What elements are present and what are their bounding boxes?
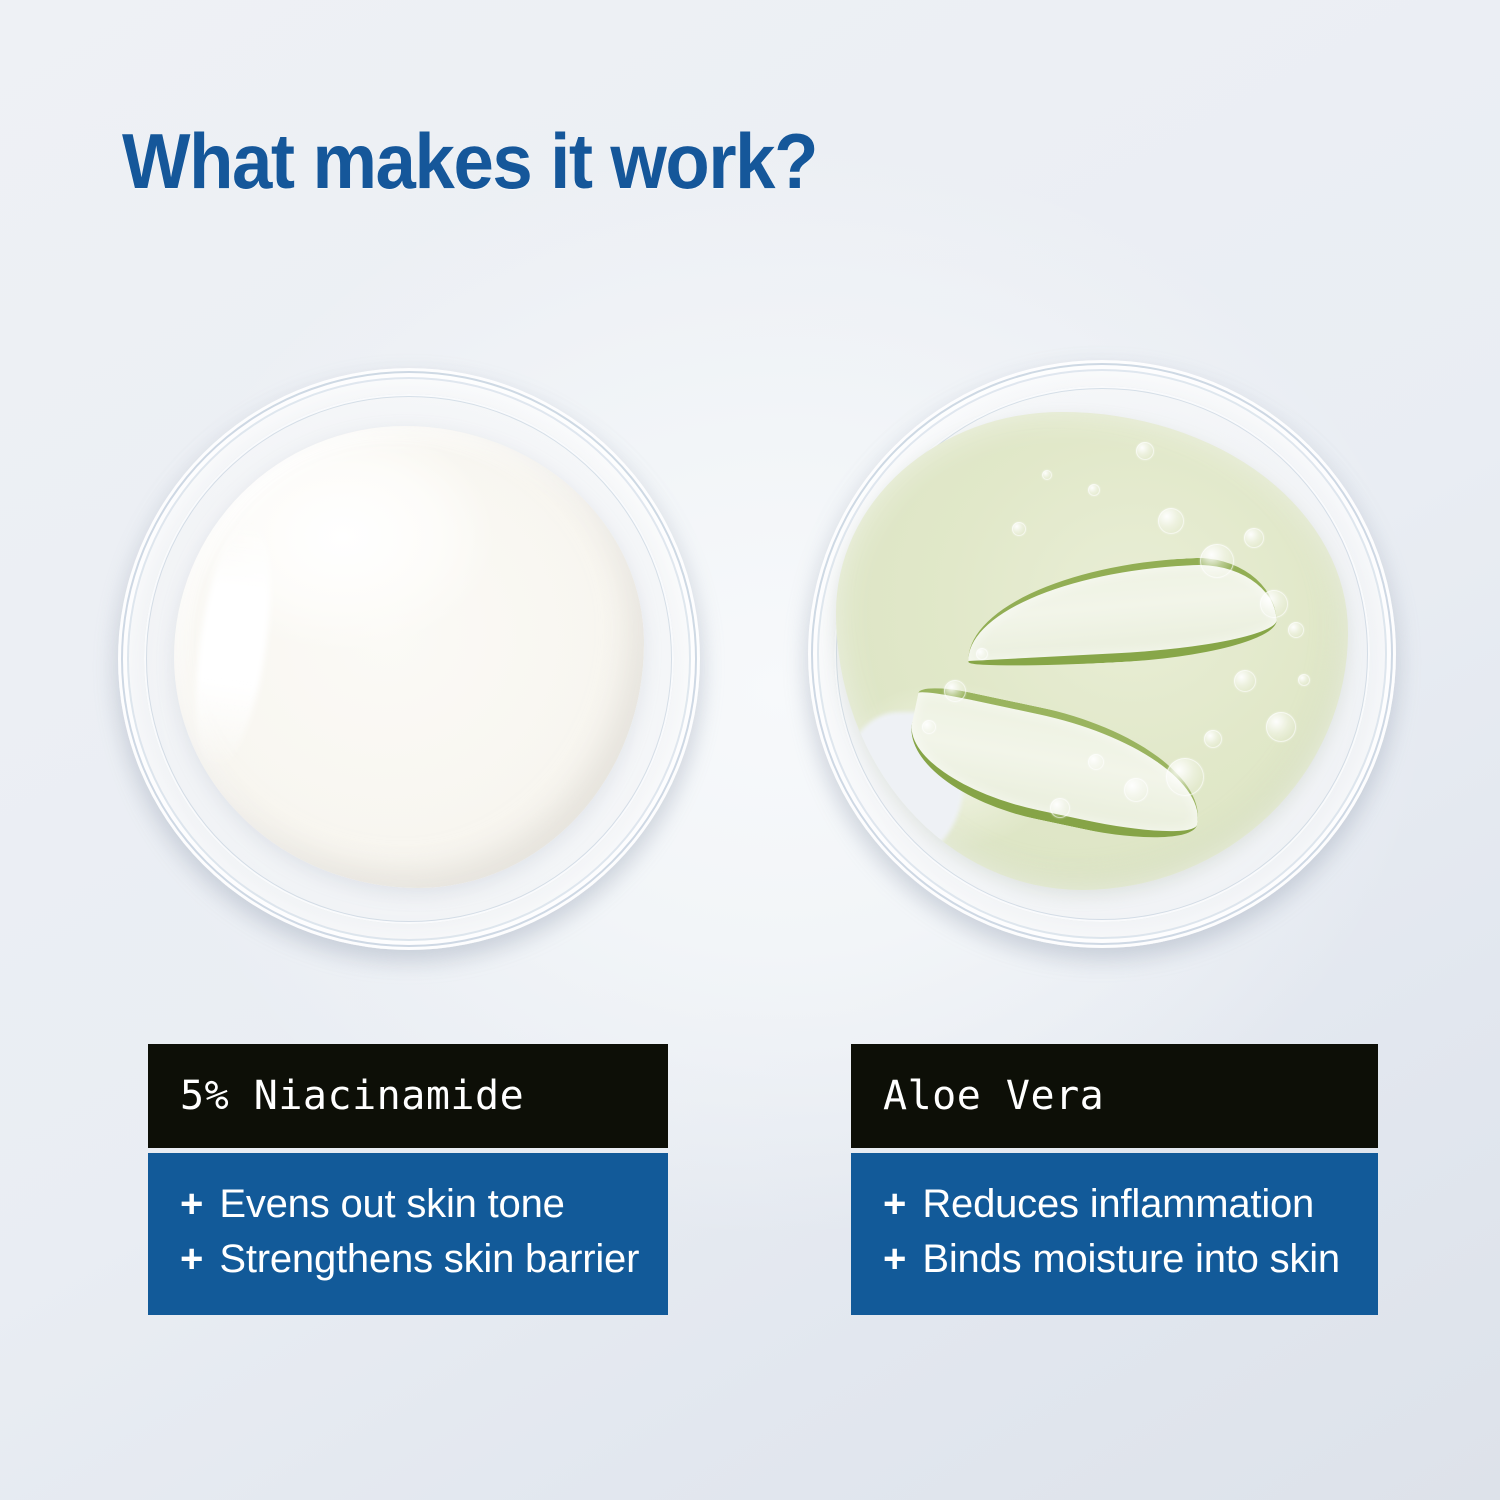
gel-bubble (1298, 674, 1310, 686)
plus-icon: + (180, 1184, 203, 1224)
cream-highlight (183, 515, 283, 772)
gel-bubble (1166, 758, 1204, 796)
gel-bubble (1158, 508, 1184, 534)
list-item: + Strengthens skin barrier (148, 1232, 668, 1287)
gel-bubble (1200, 544, 1234, 578)
gel-bubble (922, 720, 936, 734)
benefit-list: + Reduces inflammation + Binds moisture … (851, 1153, 1378, 1315)
gel-bubble (1266, 712, 1296, 742)
gel-bubble (1260, 590, 1288, 618)
gel-bubble (1088, 754, 1104, 770)
benefit-text: Evens out skin tone (219, 1182, 564, 1227)
plus-icon: + (883, 1239, 906, 1279)
product-ingredient-infographic: What makes it work? (0, 0, 1500, 1500)
gel-bubble (1136, 442, 1154, 460)
gel-bubble (1204, 730, 1222, 748)
gel-bubble (1088, 484, 1100, 496)
ingredient-name: 5% Niacinamide (148, 1044, 668, 1148)
gel-bubble (1012, 522, 1026, 536)
petri-dish-niacinamide (118, 368, 700, 950)
page-title: What makes it work? (122, 116, 817, 207)
plus-icon: + (180, 1239, 203, 1279)
gel-bubble (1288, 622, 1304, 638)
gel-bubble (1244, 528, 1264, 548)
ingredient-name: Aloe Vera (851, 1044, 1378, 1148)
aloe-leaf-slice-top (964, 554, 1279, 670)
gel-bubble (1042, 470, 1052, 480)
gel-bubble (1050, 798, 1070, 818)
petri-dish-aloe-vera (808, 360, 1396, 948)
plus-icon: + (883, 1184, 906, 1224)
benefit-text: Binds moisture into skin (922, 1237, 1340, 1282)
gel-bubble (976, 648, 988, 660)
gel-bubble (944, 680, 966, 702)
gel-bubble (1234, 670, 1256, 692)
gel-bubble (1124, 778, 1148, 802)
benefit-list: + Evens out skin tone + Strengthens skin… (148, 1153, 668, 1315)
list-item: + Reduces inflammation (851, 1177, 1378, 1232)
benefit-text: Strengthens skin barrier (219, 1237, 639, 1282)
ingredient-card-niacinamide: 5% Niacinamide + Evens out skin tone + S… (148, 1044, 668, 1315)
benefit-text: Reduces inflammation (922, 1182, 1314, 1227)
cream-blob (174, 426, 644, 888)
list-item: + Binds moisture into skin (851, 1232, 1378, 1287)
ingredient-card-aloe-vera: Aloe Vera + Reduces inflammation + Binds… (851, 1044, 1378, 1315)
list-item: + Evens out skin tone (148, 1177, 668, 1232)
